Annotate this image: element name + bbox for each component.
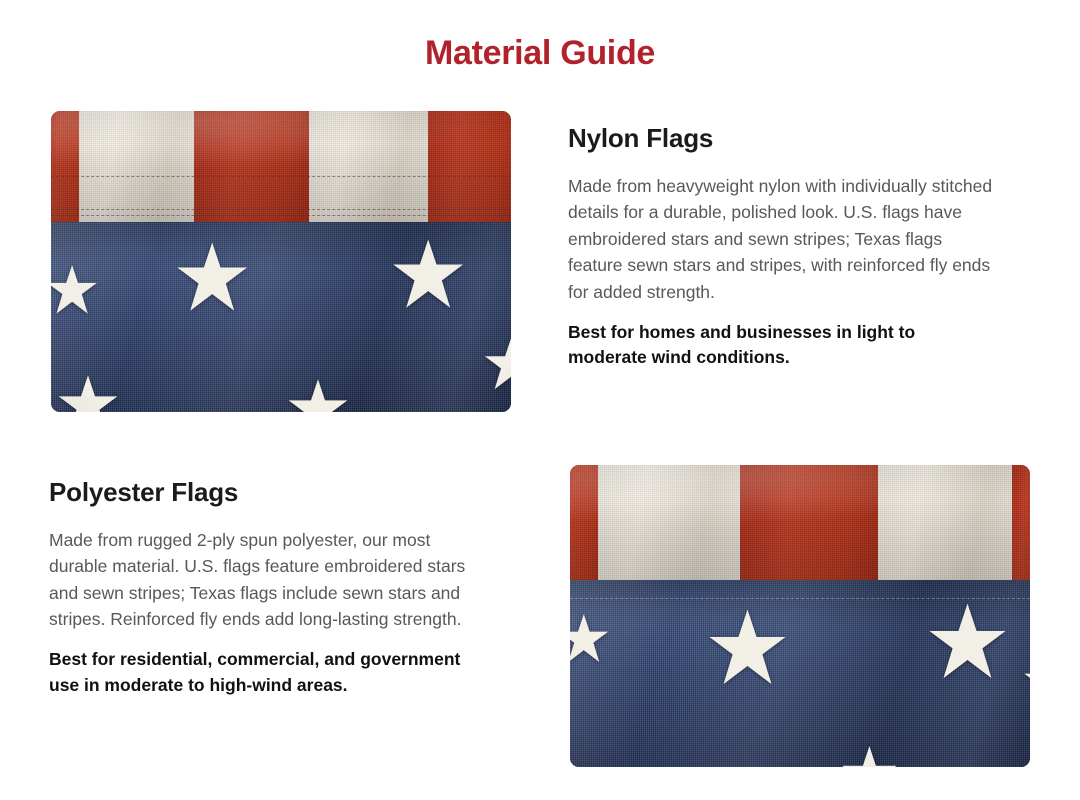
flag-star	[272, 378, 364, 412]
stripe-red	[1012, 465, 1030, 580]
flag-star	[51, 264, 111, 315]
stripe-white	[309, 111, 433, 222]
stripe-white	[878, 465, 1016, 580]
polyester-section-text: Polyester Flags Made from rugged 2-ply s…	[49, 478, 481, 698]
flag-star	[1012, 655, 1030, 706]
stripe-red	[194, 111, 314, 222]
stitch-line	[570, 598, 1030, 599]
flag-star	[51, 374, 134, 412]
flag-canton	[51, 222, 511, 412]
page-title: Material Guide	[0, 34, 1080, 73]
stripe-red	[428, 111, 511, 222]
nylon-flag-image	[51, 111, 511, 412]
stitch-line	[51, 209, 511, 210]
nylon-section-text: Nylon Flags Made from heavyweight nylon …	[568, 124, 998, 371]
polyester-description: Made from rugged 2-ply spun polyester, o…	[49, 527, 481, 633]
polyester-best-for: Best for residential, commercial, and go…	[49, 647, 481, 698]
polyester-heading: Polyester Flags	[49, 478, 481, 507]
flag-stripes	[51, 111, 511, 222]
stripe-white	[598, 465, 745, 580]
flag-star	[570, 613, 621, 664]
stitch-line	[51, 176, 511, 177]
flag-artwork-nylon	[51, 111, 511, 412]
stripe-red	[740, 465, 883, 580]
flag-star	[690, 608, 805, 687]
flag-stripes	[570, 465, 1030, 580]
flag-canton	[570, 580, 1030, 767]
stripe-white	[79, 111, 199, 222]
stitch-line	[51, 215, 511, 216]
nylon-heading: Nylon Flags	[568, 124, 998, 153]
flag-star	[373, 238, 483, 310]
nylon-best-for: Best for homes and businesses in light t…	[568, 320, 998, 371]
flag-artwork-polyester	[570, 465, 1030, 767]
nylon-description: Made from heavyweight nylon with individ…	[568, 173, 998, 306]
flag-star	[828, 745, 911, 767]
polyester-flag-image	[570, 465, 1030, 767]
flag-star	[157, 241, 267, 313]
flag-star	[470, 336, 511, 391]
flag-star	[910, 602, 1025, 681]
